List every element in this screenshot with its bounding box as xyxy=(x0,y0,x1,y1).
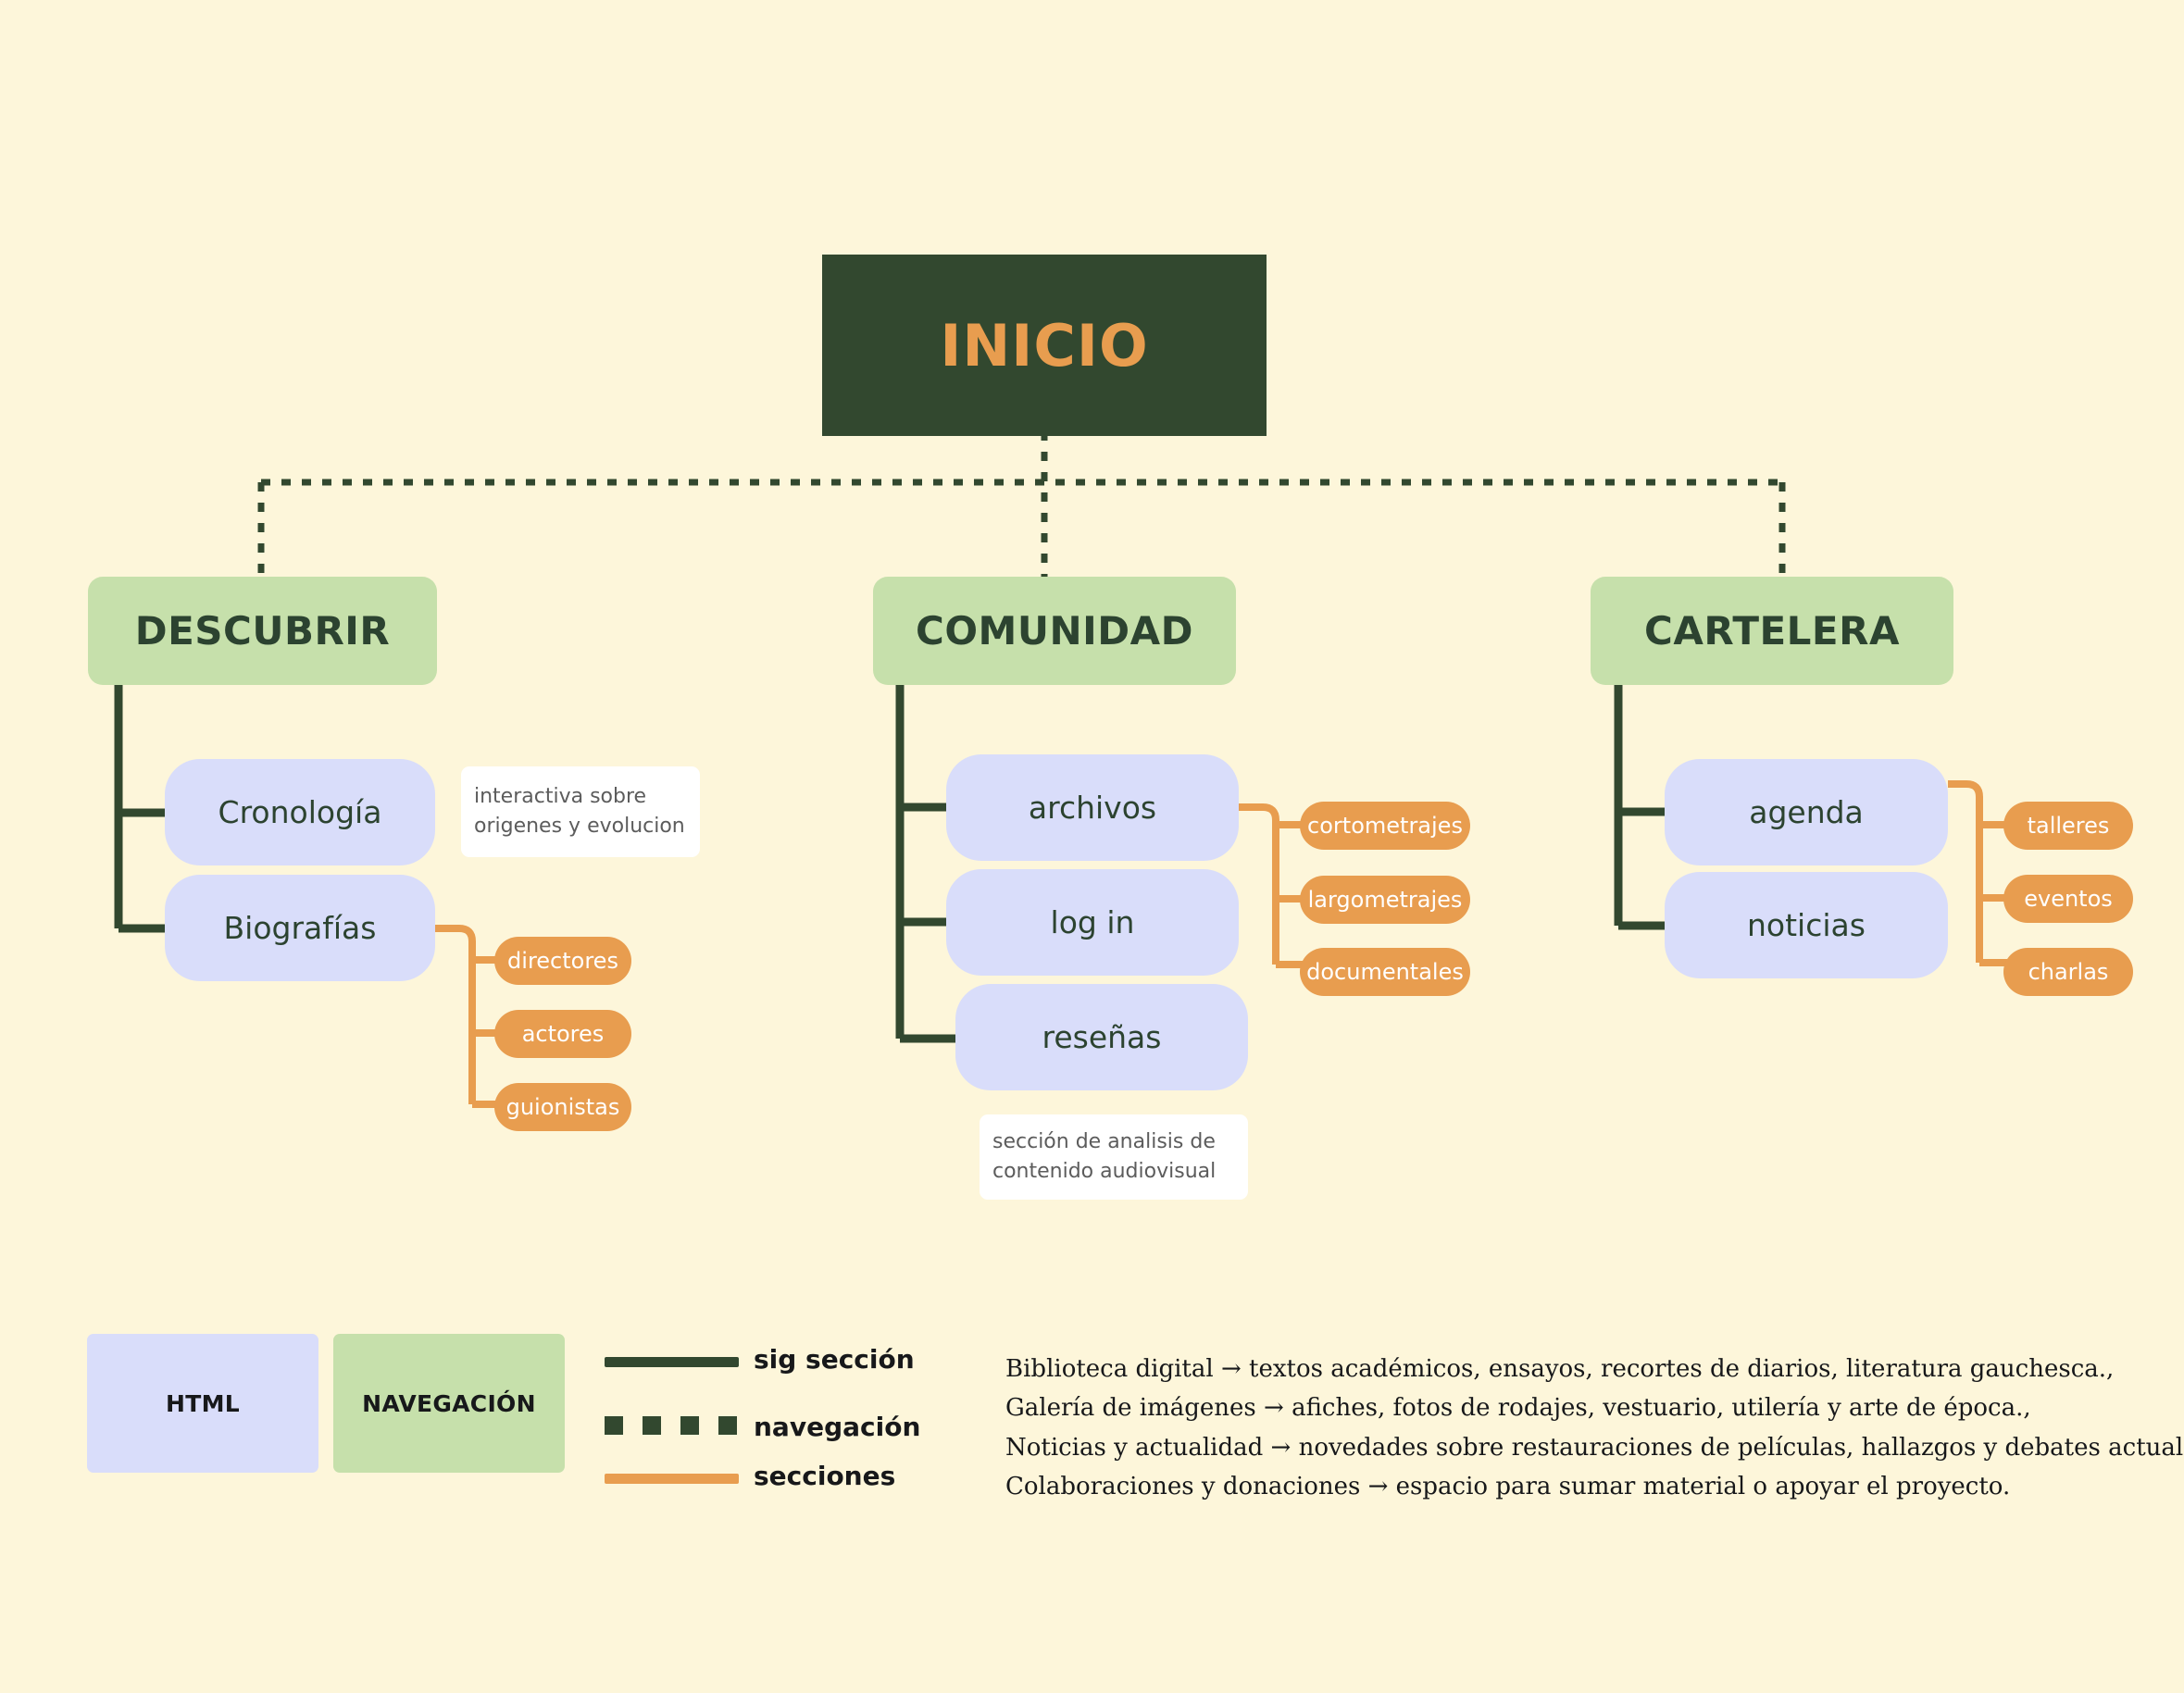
legend-key-label-secciones: secciones xyxy=(754,1461,895,1491)
node-comunidad[interactable]: COMUNIDAD xyxy=(873,577,1236,685)
pill-talleres[interactable]: talleres xyxy=(2003,802,2133,850)
note-resenas: sección de analisis de contenido audiovi… xyxy=(980,1114,1248,1200)
legend-key-dash-2 xyxy=(643,1416,661,1435)
node-cartelera[interactable]: CARTELERA xyxy=(1591,577,1953,685)
description-block: Biblioteca digital → textos académicos, … xyxy=(1005,1350,2184,1507)
node-biografias[interactable]: Biografías xyxy=(165,875,435,981)
description-line-4: Colaboraciones y donaciones → espacio pa… xyxy=(1005,1467,2184,1506)
legend-key-dash-3 xyxy=(680,1416,699,1435)
legend-key-line-secciones xyxy=(605,1474,739,1484)
legend-key-label-sig-seccion: sig sección xyxy=(754,1344,915,1375)
pill-largometrajes[interactable]: largometrajes xyxy=(1300,876,1470,924)
node-resenas[interactable]: reseñas xyxy=(955,984,1248,1090)
note-cronologia: interactiva sobre origenes y evolucion xyxy=(461,766,700,857)
sitemap-diagram: INICIO DESCUBRIR COMUNIDAD CARTELERA Cro… xyxy=(0,0,2184,1693)
legend-label-navegacion: NAVEGACIÓN xyxy=(333,1334,565,1473)
node-agenda[interactable]: agenda xyxy=(1665,759,1948,865)
pill-cortometrajes[interactable]: cortometrajes xyxy=(1300,802,1470,850)
pill-documentales[interactable]: documentales xyxy=(1300,948,1470,996)
pill-charlas[interactable]: charlas xyxy=(2003,948,2133,996)
description-line-1: Biblioteca digital → textos académicos, … xyxy=(1005,1350,2184,1388)
secciones-spine-cartelera xyxy=(1948,784,1979,963)
secciones-spine-descubrir xyxy=(435,928,472,1104)
pill-actores[interactable]: actores xyxy=(494,1010,631,1058)
node-descubrir[interactable]: DESCUBRIR xyxy=(88,577,437,685)
node-log-in[interactable]: log in xyxy=(946,869,1239,976)
node-cronologia[interactable]: Cronología xyxy=(165,759,435,865)
pill-eventos[interactable]: eventos xyxy=(2003,875,2133,923)
pill-guionistas[interactable]: guionistas xyxy=(494,1083,631,1131)
legend-key-line-sig-seccion xyxy=(605,1357,739,1367)
legend-label-html: HTML xyxy=(87,1334,318,1473)
legend-key-dash-4 xyxy=(718,1416,737,1435)
node-inicio[interactable]: INICIO xyxy=(822,255,1267,436)
legend-key-dash-1 xyxy=(605,1416,623,1435)
pill-directores[interactable]: directores xyxy=(494,937,631,985)
description-line-3: Noticias y actualidad → novedades sobre … xyxy=(1005,1428,2184,1467)
node-archivos[interactable]: archivos xyxy=(946,754,1239,861)
legend-key-label-navegacion: navegación xyxy=(754,1412,920,1442)
description-line-2: Galería de imágenes → afiches, fotos de … xyxy=(1005,1388,2184,1427)
node-noticias[interactable]: noticias xyxy=(1665,872,1948,978)
secciones-spine-comunidad xyxy=(1239,807,1276,965)
